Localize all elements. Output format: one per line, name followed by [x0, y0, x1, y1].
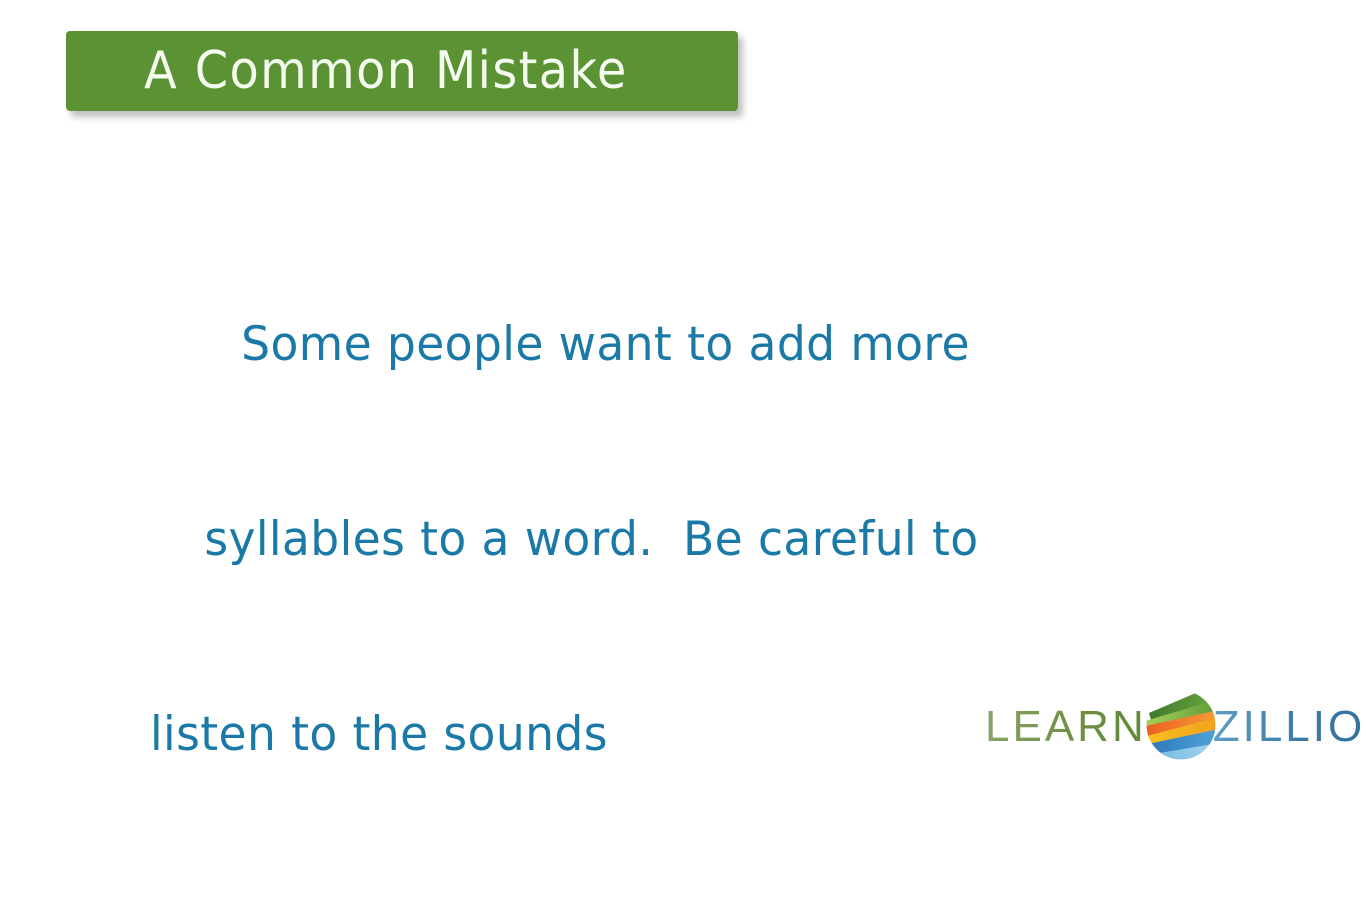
slide-canvas: A Common Mistake Some people want to add… — [0, 0, 1366, 768]
body-text-line-1: Some people want to add more — [150, 312, 1178, 377]
body-text-line-2: syllables to a word. Be careful to — [150, 507, 1178, 572]
title-banner: A Common Mistake — [66, 31, 738, 111]
learnzillion-logo: LEARN — [985, 688, 1345, 762]
logo-word-learn: LEARN — [985, 705, 1147, 749]
learnzillion-sphere-icon — [1143, 687, 1219, 763]
page-title: A Common Mistake — [144, 45, 628, 97]
body-text-block: Some people want to add more syllables t… — [150, 182, 1210, 897]
logo-word-zillion: ZILLION — [1213, 705, 1366, 749]
